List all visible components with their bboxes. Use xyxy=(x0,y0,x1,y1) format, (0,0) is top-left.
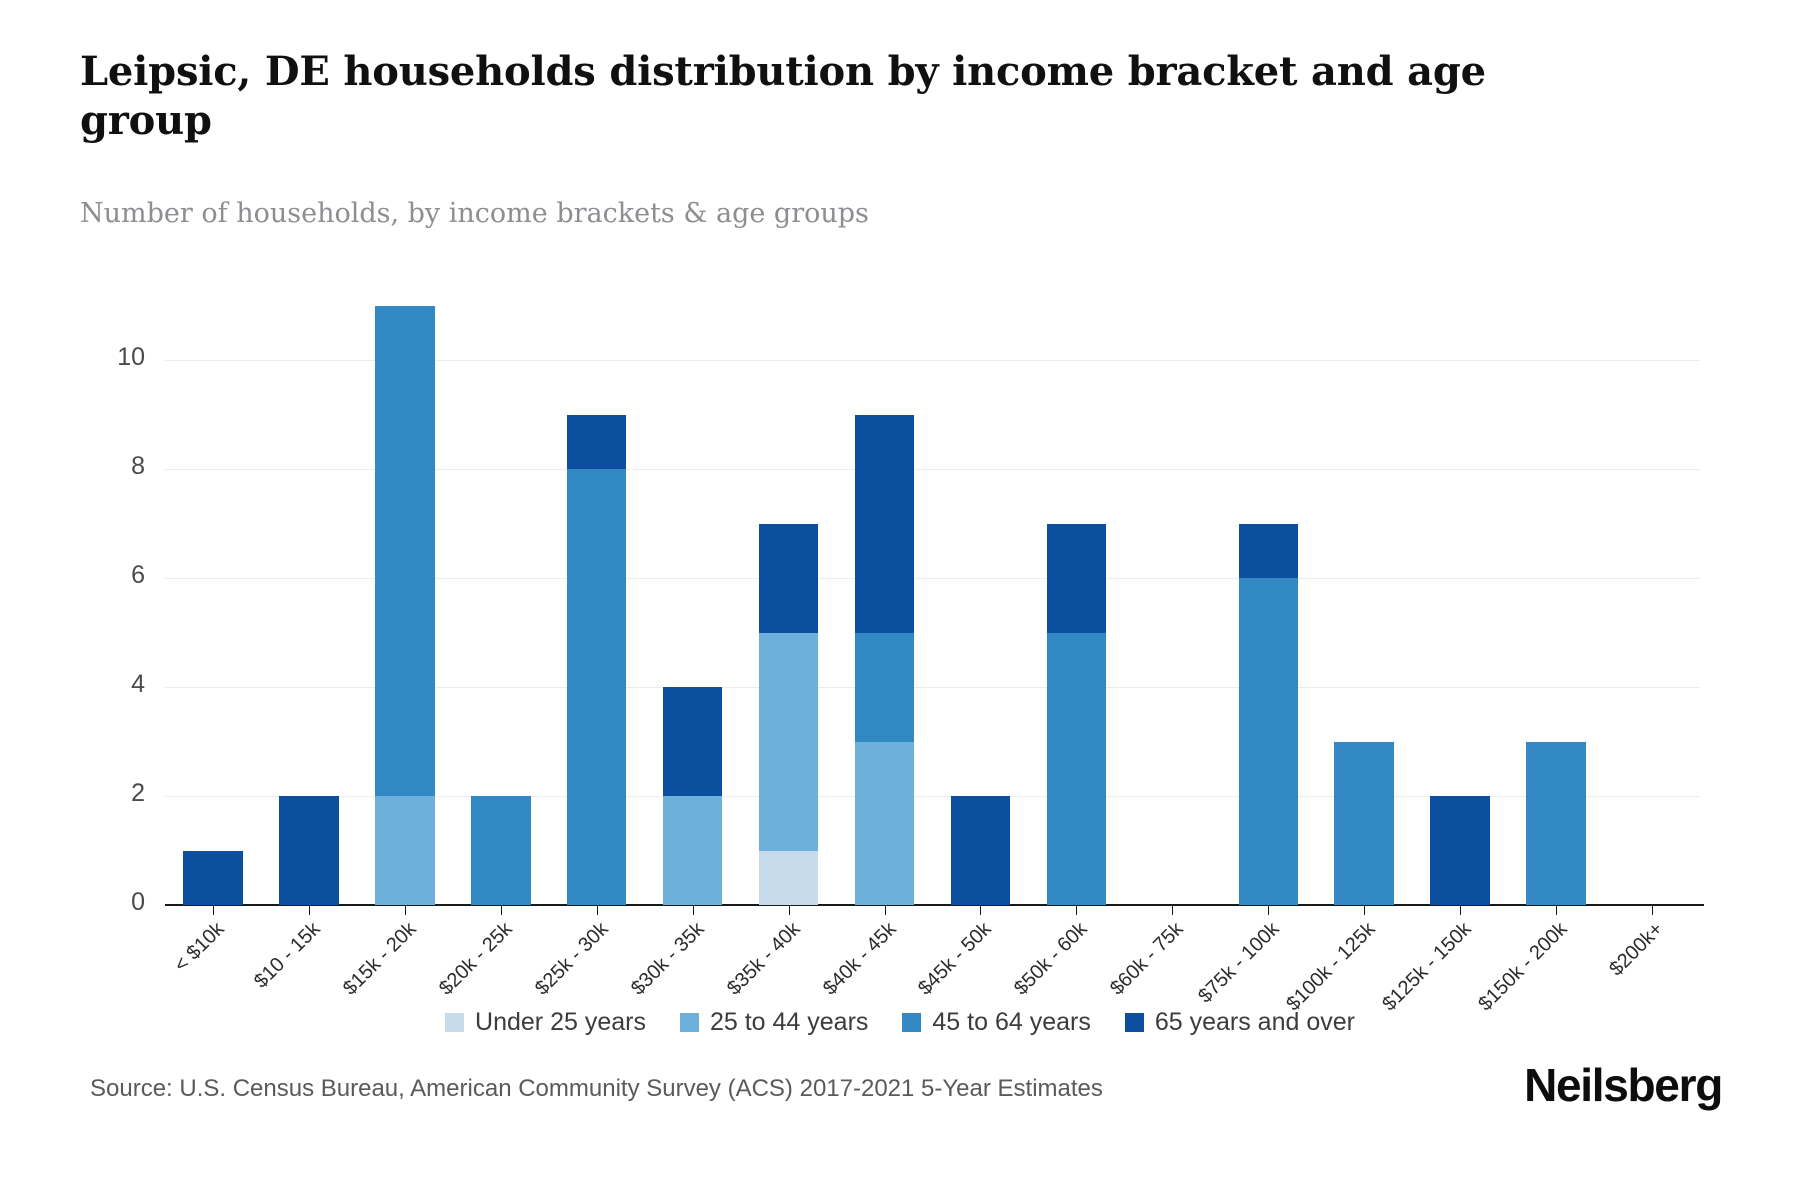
x-axis-tick xyxy=(501,906,502,915)
chart-legend: Under 25 years25 to 44 years45 to 64 yea… xyxy=(0,1008,1800,1037)
x-axis-tick xyxy=(1268,906,1269,915)
bar-segment[interactable] xyxy=(375,306,434,797)
bar-segment[interactable] xyxy=(855,742,914,906)
bar-segment[interactable] xyxy=(759,851,818,906)
bar-stack[interactable] xyxy=(375,306,434,906)
bar-segment[interactable] xyxy=(855,415,914,633)
bar-stack[interactable] xyxy=(663,687,722,905)
bar-segment[interactable] xyxy=(1526,742,1585,906)
bar-segment[interactable] xyxy=(567,469,626,905)
legend-swatch-icon xyxy=(902,1013,921,1032)
bar-segment[interactable] xyxy=(471,796,530,905)
bar-segment[interactable] xyxy=(183,851,242,906)
bar-stack[interactable] xyxy=(567,415,626,906)
y-axis-tick-label: 8 xyxy=(83,452,145,481)
x-axis-tick xyxy=(1556,906,1557,915)
x-axis-tick xyxy=(885,906,886,915)
x-axis-tick xyxy=(309,906,310,915)
legend-swatch-icon xyxy=(445,1013,464,1032)
bar-stack[interactable] xyxy=(1526,742,1585,906)
x-axis-tick xyxy=(405,906,406,915)
x-axis-tick xyxy=(1076,906,1077,915)
bar-stack[interactable] xyxy=(279,796,338,905)
bar-segment[interactable] xyxy=(1239,524,1298,579)
y-axis-tick-label: 10 xyxy=(83,343,145,372)
bar-stack[interactable] xyxy=(183,851,242,906)
chart-card: Leipsic, DE households distribution by i… xyxy=(0,0,1800,1200)
bar-segment[interactable] xyxy=(567,415,626,470)
x-axis-tick xyxy=(1172,906,1173,915)
x-axis-tick xyxy=(1460,906,1461,915)
bar-segment[interactable] xyxy=(663,796,722,905)
y-axis-tick-label: 0 xyxy=(83,888,145,917)
x-axis-tick xyxy=(597,906,598,915)
bar-stack[interactable] xyxy=(951,796,1010,905)
bar-segment[interactable] xyxy=(375,796,434,905)
x-axis-tick xyxy=(1652,906,1653,915)
y-axis-tick-label: 2 xyxy=(83,779,145,808)
legend-item[interactable]: 25 to 44 years xyxy=(680,1008,868,1037)
legend-item[interactable]: Under 25 years xyxy=(445,1008,646,1037)
legend-item[interactable]: 65 years and over xyxy=(1125,1008,1355,1037)
bar-segment[interactable] xyxy=(855,633,914,742)
bar-stack[interactable] xyxy=(1334,742,1393,906)
bar-segment[interactable] xyxy=(663,687,722,796)
legend-swatch-icon xyxy=(1125,1013,1144,1032)
bar-stack[interactable] xyxy=(1239,524,1298,906)
bar-segment[interactable] xyxy=(279,796,338,905)
x-axis-tick xyxy=(980,906,981,915)
source-note: Source: U.S. Census Bureau, American Com… xyxy=(90,1075,1103,1103)
legend-label: Under 25 years xyxy=(475,1008,646,1037)
bar-stack[interactable] xyxy=(759,524,818,906)
legend-swatch-icon xyxy=(680,1013,699,1032)
x-axis-tick xyxy=(1364,906,1365,915)
bar-segment[interactable] xyxy=(759,633,818,851)
bar-segment[interactable] xyxy=(1047,524,1106,633)
y-axis-tick-label: 4 xyxy=(83,670,145,699)
bar-segment[interactable] xyxy=(1047,633,1106,906)
bar-segment[interactable] xyxy=(1239,578,1298,905)
bar-stack[interactable] xyxy=(1047,524,1106,906)
bar-segment[interactable] xyxy=(759,524,818,633)
bar-stack[interactable] xyxy=(855,415,914,906)
brand-logo: Neilsberg xyxy=(1524,1058,1722,1112)
legend-label: 65 years and over xyxy=(1155,1008,1355,1037)
bar-stack[interactable] xyxy=(471,796,530,905)
legend-label: 45 to 64 years xyxy=(932,1008,1090,1037)
y-axis-tick-label: 6 xyxy=(83,561,145,590)
x-axis-tick xyxy=(693,906,694,915)
x-axis-tick xyxy=(789,906,790,915)
bar-segment[interactable] xyxy=(1334,742,1393,906)
bar-segment[interactable] xyxy=(951,796,1010,905)
bar-segment[interactable] xyxy=(1430,796,1489,905)
x-axis-tick xyxy=(213,906,214,915)
bar-stack[interactable] xyxy=(1430,796,1489,905)
legend-item[interactable]: 45 to 64 years xyxy=(902,1008,1090,1037)
legend-label: 25 to 44 years xyxy=(710,1008,868,1037)
